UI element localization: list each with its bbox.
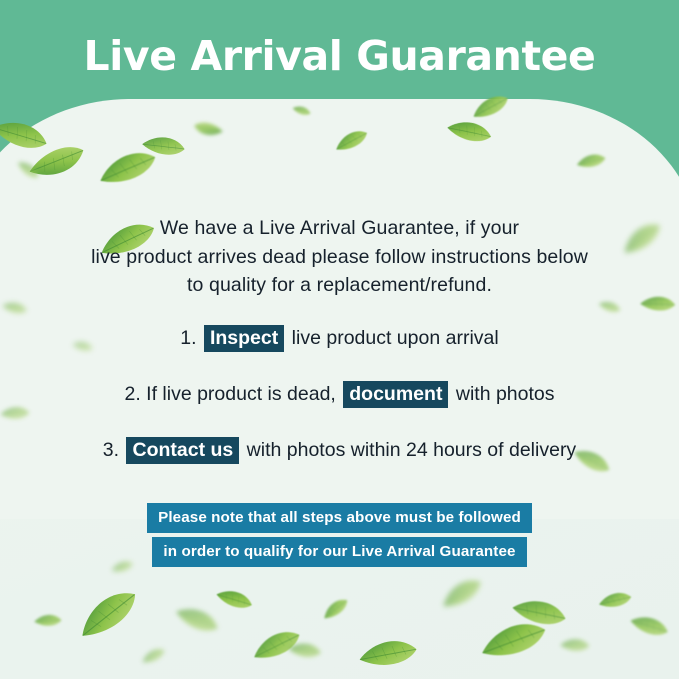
note-bar-2: in order to qualify for our Live Arrival… xyxy=(0,537,679,567)
note-bar-2-text: in order to qualify for our Live Arrival… xyxy=(152,537,526,567)
step-keyword-3: Contact us xyxy=(126,437,239,464)
note-bar-1: Please note that all steps above must be… xyxy=(0,503,679,533)
step-item-3: 3. Contact us with photos within 24 hour… xyxy=(20,437,659,464)
step-number-2: 2. xyxy=(124,383,140,405)
intro-paragraph: We have a Live Arrival Guarantee, if you… xyxy=(40,214,639,300)
step-text-2: with photos xyxy=(456,383,555,405)
step-keyword-1: Inspect xyxy=(204,325,284,352)
step-number-1: 1. xyxy=(180,327,196,349)
step-pretext-2: If live product is dead, xyxy=(146,383,336,405)
intro-line-1: We have a Live Arrival Guarantee, if you… xyxy=(160,217,519,239)
intro-line-2: live product arrives dead please follow … xyxy=(91,246,588,268)
note-bar-1-text: Please note that all steps above must be… xyxy=(147,503,532,533)
step-item-1: 1. Inspect live product upon arrival xyxy=(20,325,659,352)
step-text-3: with photos within 24 hours of delivery xyxy=(247,439,577,461)
step-keyword-2: document xyxy=(343,381,448,408)
step-item-2: 2. If live product is dead, document wit… xyxy=(20,381,659,408)
live-arrival-guarantee-card: Live Arrival Guarantee We have a Live Ar… xyxy=(0,0,679,679)
step-number-3: 3. xyxy=(103,439,119,461)
intro-line-3: to quality for a replacement/refund. xyxy=(187,274,492,296)
content-area: We have a Live Arrival Guarantee, if you… xyxy=(0,0,679,679)
step-text-1: live product upon arrival xyxy=(292,327,499,349)
